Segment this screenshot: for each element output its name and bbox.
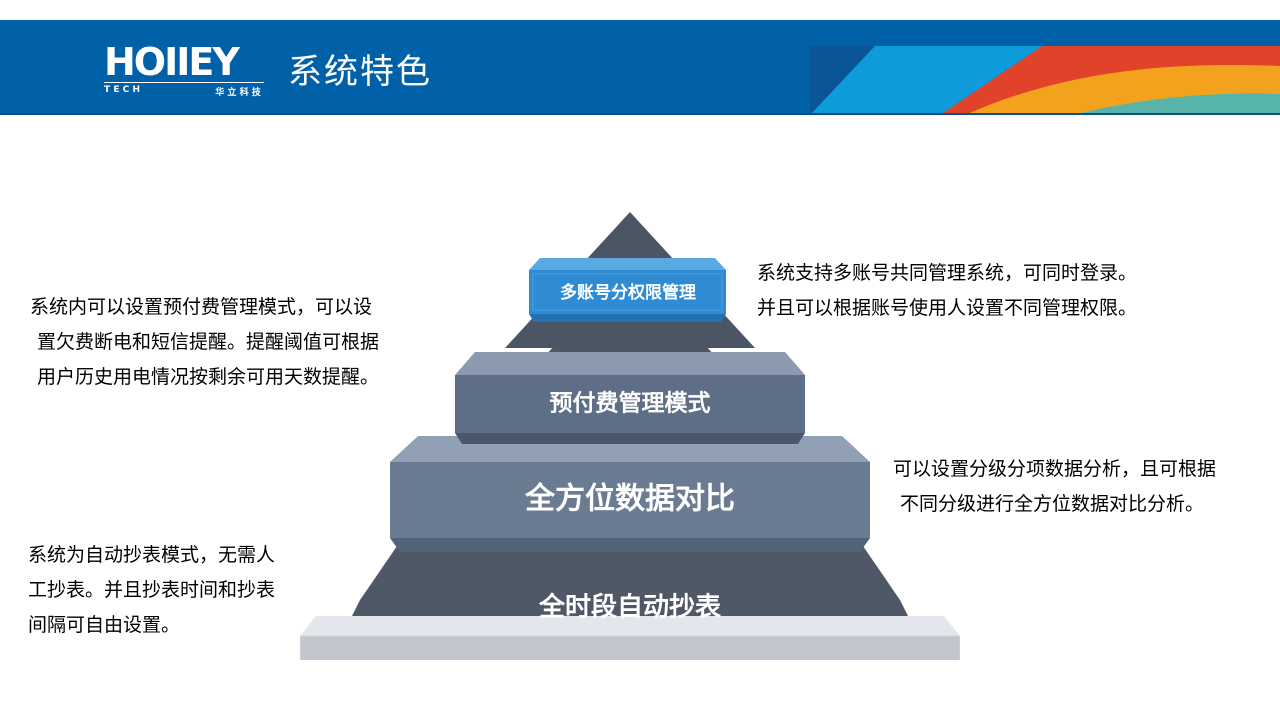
- callout-analysis-line-1: 可以设置分级分项数据分析，且可根据: [893, 452, 1216, 487]
- callout-data-analysis: 可以设置分级分项数据分析，且可根据 不同分级进行全方位数据对比分析。: [893, 452, 1216, 522]
- tier-3-bottom-shadow: [390, 538, 870, 552]
- tier-4-front-face: [300, 636, 960, 660]
- pyramid-tier-2[interactable]: 预付费管理模式: [455, 352, 805, 444]
- callout-meter-line-3: 间隔可自由设置。: [28, 608, 275, 643]
- pyramid-tier-3[interactable]: 全方位数据对比: [390, 436, 870, 552]
- callout-meter-line-2: 工抄表。并且抄表时间和抄表: [28, 573, 275, 608]
- tier-2-bottom-shadow: [455, 433, 805, 444]
- callout-accounts-line-1: 系统支持多账号共同管理系统，可同时登录。: [757, 256, 1137, 291]
- page-title: 系统特色: [288, 50, 432, 94]
- callout-accounts-line-2: 并且可以根据账号使用人设置不同管理权限。: [757, 291, 1137, 326]
- header-bottom-rule: [0, 113, 1280, 115]
- callout-auto-meter-reading: 系统为自动抄表模式，无需人 工抄表。并且抄表时间和抄表 间隔可自由设置。: [28, 538, 275, 643]
- callout-prepaid-line-1: 系统内可以设置预付费管理模式，可以设: [30, 290, 379, 325]
- tier-1-top-face: [529, 258, 726, 270]
- swoosh-svg: [810, 20, 1280, 115]
- callout-multi-account: 系统支持多账号共同管理系统，可同时登录。 并且可以根据账号使用人设置不同管理权限…: [757, 256, 1137, 326]
- tier-1-bottom-shadow: [529, 314, 726, 322]
- logo-tech-label: TECH: [104, 85, 143, 98]
- slide-canvas: HOIIEY TECH 华立科技 系统特色 全时段自动抄表: [0, 0, 1280, 720]
- logo-cn-label: 华立科技: [215, 85, 264, 98]
- tier-4-label: 全时段自动抄表: [538, 592, 722, 623]
- callout-prepaid-line-3: 用户历史用电情况按剩余可用天数提醒。: [30, 360, 379, 395]
- holley-logo: HOIIEY TECH 华立科技: [104, 43, 264, 97]
- tier-3-label: 全方位数据对比: [524, 482, 735, 517]
- tier-2-label: 预付费管理模式: [550, 390, 711, 417]
- pyramid-tier-1[interactable]: 多账号分权限管理: [529, 258, 726, 322]
- tier-2-top-face: [455, 352, 805, 375]
- tier-1-label: 多账号分权限管理: [560, 282, 696, 303]
- logo-wordmark: HOIIEY: [104, 43, 264, 81]
- logo-subtitle: TECH 华立科技: [104, 82, 264, 98]
- callout-analysis-line-2: 不同分级进行全方位数据对比分析。: [893, 487, 1216, 522]
- header-swoosh-graphic: [810, 20, 1280, 115]
- callout-meter-line-1: 系统为自动抄表模式，无需人: [28, 538, 275, 573]
- callout-prepaid-management: 系统内可以设置预付费管理模式，可以设 置欠费断电和短信提醒。提醒阈值可根据 用户…: [30, 290, 379, 395]
- callout-prepaid-line-2: 置欠费断电和短信提醒。提醒阈值可根据: [30, 325, 379, 360]
